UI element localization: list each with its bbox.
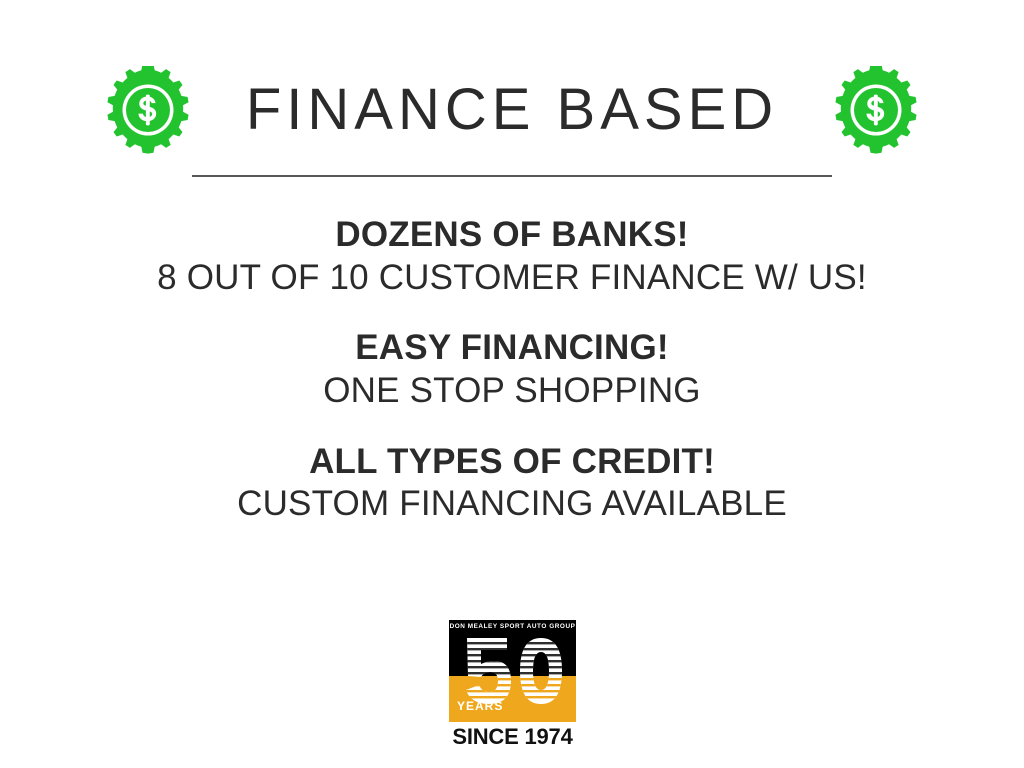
copy-heading: DOZENS OF BANKS! bbox=[0, 214, 1024, 257]
page-title: FINANCE BASED bbox=[192, 81, 832, 139]
copy-heading: EASY FINANCING! bbox=[0, 327, 1024, 370]
logo-since-label: SINCE 1974 bbox=[449, 725, 576, 748]
slide-canvas: FINANCE BASED bbox=[0, 0, 1024, 768]
logo-mark: DON MEALEY SPORT AUTO GROUP bbox=[449, 620, 576, 722]
title-divider bbox=[192, 175, 832, 177]
logo-years-label: YEARS bbox=[457, 700, 503, 712]
copy-subtext: CUSTOM FINANCING AVAILABLE bbox=[0, 483, 1024, 526]
gear-dollar-icon bbox=[832, 66, 920, 154]
copy-block-financing: EASY FINANCING! ONE STOP SHOPPING bbox=[0, 327, 1024, 412]
copy-subtext: ONE STOP SHOPPING bbox=[0, 370, 1024, 413]
body-copy: DOZENS OF BANKS! 8 OUT OF 10 CUSTOMER FI… bbox=[0, 214, 1024, 526]
brand-logo: DON MEALEY SPORT AUTO GROUP bbox=[449, 620, 576, 748]
copy-subtext: 8 OUT OF 10 CUSTOMER FINANCE W/ US! bbox=[0, 257, 1024, 300]
copy-heading: ALL TYPES OF CREDIT! bbox=[0, 441, 1024, 484]
copy-block-banks: DOZENS OF BANKS! 8 OUT OF 10 CUSTOMER FI… bbox=[0, 214, 1024, 299]
slide-header: FINANCE BASED bbox=[0, 62, 1024, 192]
copy-block-credit: ALL TYPES OF CREDIT! CUSTOM FINANCING AV… bbox=[0, 441, 1024, 526]
logo-group-name: DON MEALEY SPORT AUTO GROUP bbox=[449, 624, 576, 630]
header-row: FINANCE BASED bbox=[0, 62, 1024, 158]
gear-dollar-icon bbox=[104, 66, 192, 154]
